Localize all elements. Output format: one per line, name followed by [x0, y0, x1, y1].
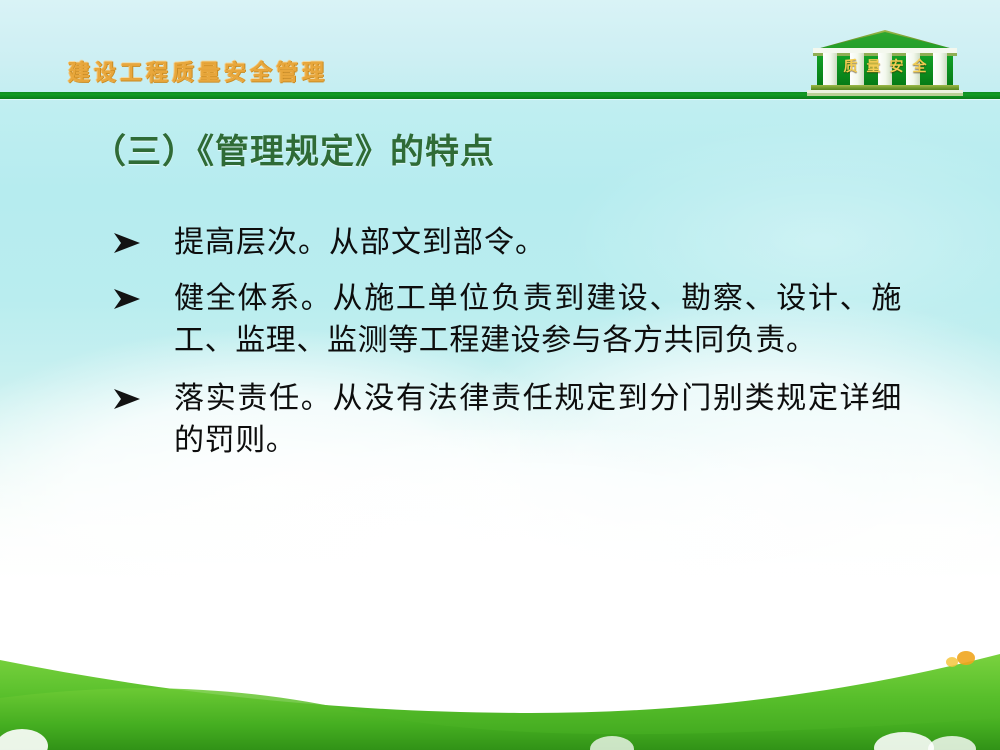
slide: 建设工程质量安全管理 — [0, 0, 1000, 750]
list-item-text: 健全体系。从施工单位负责到建设、勘察、设计、施工、监理、监测等工程建设参与各方共… — [174, 278, 902, 362]
list-item: 提高层次。从部文到部令。 — [112, 222, 902, 264]
arrowhead-bullet-icon — [112, 278, 174, 310]
bullet-list: 提高层次。从部文到部令。 健全体系。从施工单位负责到建设、勘察、设计、施工、监理… — [112, 222, 902, 476]
quality-safety-temple-logo: 质量安全 — [805, 28, 965, 98]
grass-hills-decoration — [0, 620, 1000, 750]
arrowhead-bullet-icon — [112, 378, 174, 410]
arrowhead-bullet-icon — [112, 222, 174, 254]
list-item-text: 落实责任。从没有法律责任规定到分门别类规定详细的罚则。 — [174, 378, 902, 462]
header-title: 建设工程质量安全管理 — [68, 62, 328, 84]
list-item: 健全体系。从施工单位负责到建设、勘察、设计、施工、监理、监测等工程建设参与各方共… — [112, 278, 902, 362]
page-title: （三）《管理规定》的特点 — [92, 124, 495, 173]
list-item: 落实责任。从没有法律责任规定到分门别类规定详细的罚则。 — [112, 378, 902, 462]
list-item-text: 提高层次。从部文到部令。 — [174, 222, 902, 264]
